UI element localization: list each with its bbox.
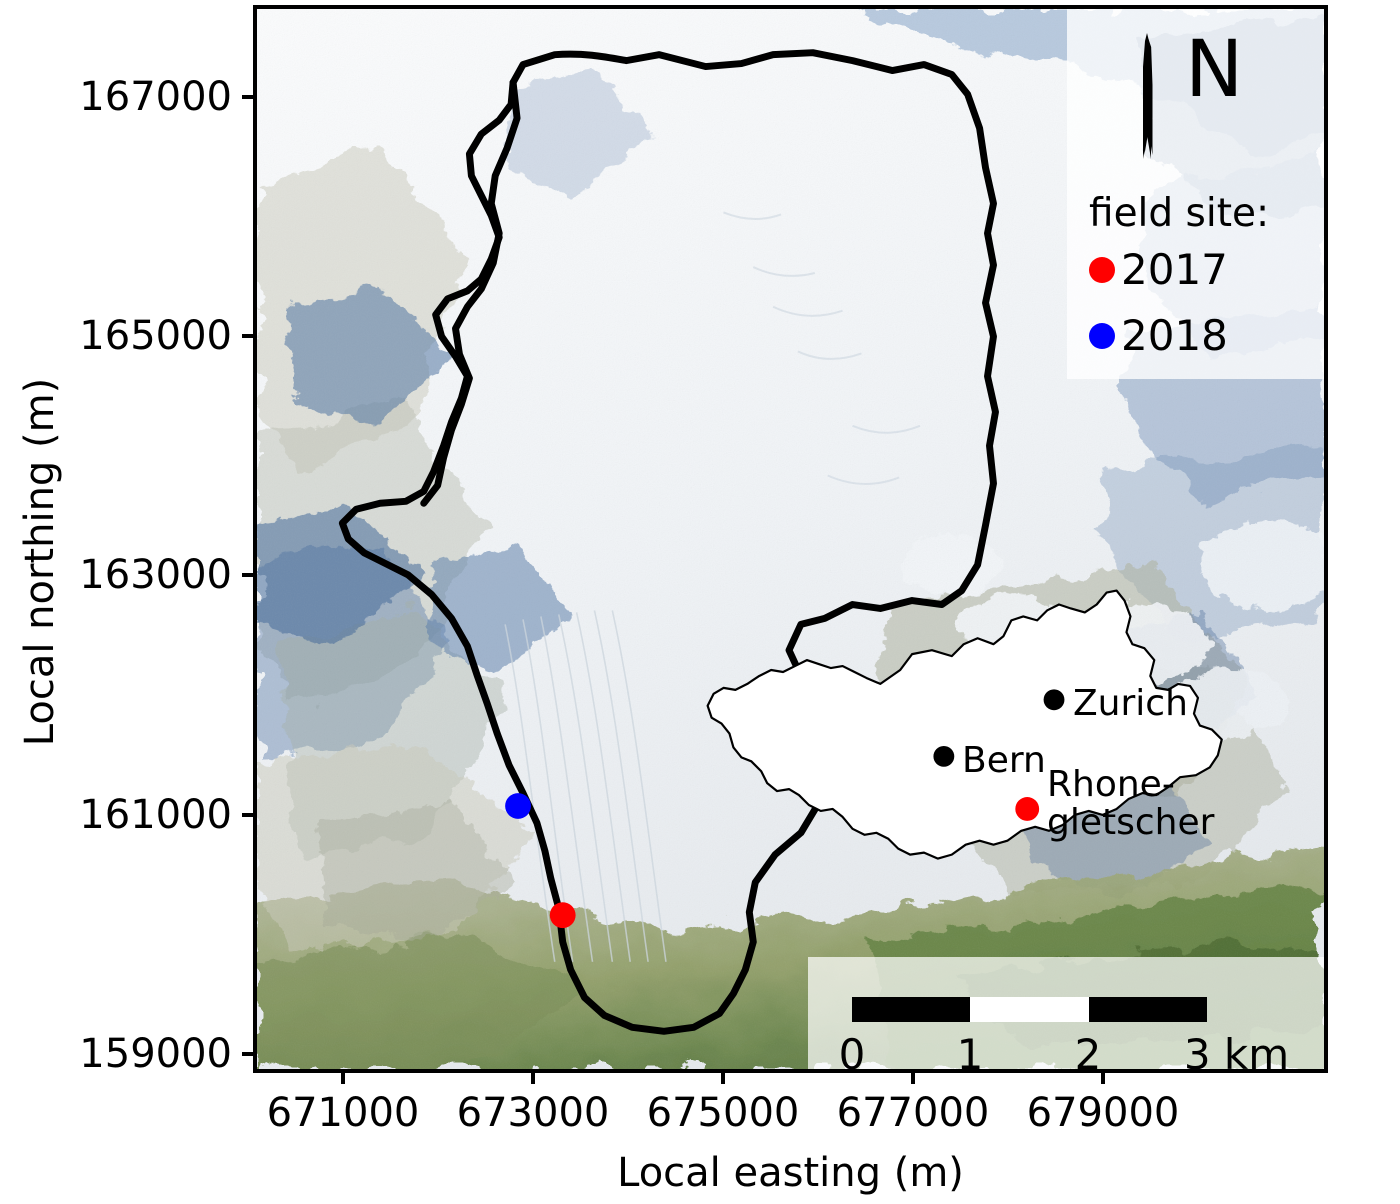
figure-root: Zurich Bern Rhone- gletscher N field sit… bbox=[0, 0, 1400, 1204]
north-arrow-label: N bbox=[1185, 31, 1243, 109]
inset-site-rhonegletscher-dot bbox=[1015, 797, 1039, 821]
xtick-label-675000: 675000 bbox=[647, 1090, 800, 1136]
legend-title: field site: bbox=[1089, 191, 1269, 236]
ytick-mark-161000 bbox=[242, 813, 253, 817]
xtick-mark-679000 bbox=[1101, 1073, 1105, 1084]
scalebar-label-1: 1 bbox=[957, 1030, 984, 1073]
xtick-mark-673000 bbox=[531, 1073, 535, 1084]
xtick-mark-675000 bbox=[721, 1073, 725, 1084]
scalebar-label-0: 0 bbox=[839, 1030, 866, 1073]
scalebar-segment-1 bbox=[970, 997, 1088, 1022]
ytick-mark-165000 bbox=[242, 334, 253, 338]
legend-entry-2017[interactable]: 2017 bbox=[1089, 249, 1228, 291]
map-legend[interactable]: N field site: 2017 2018 bbox=[1067, 9, 1328, 379]
ytick-label-167000: 167000 bbox=[0, 74, 232, 120]
ytick-label-159000: 159000 bbox=[0, 1031, 232, 1077]
y-axis-label: Local northing (m) bbox=[17, 282, 63, 842]
xtick-label-673000: 673000 bbox=[457, 1090, 610, 1136]
legend-swatch-2017 bbox=[1089, 257, 1115, 283]
scalebar-segment-2 bbox=[1089, 997, 1207, 1022]
inset-label-bern: Bern bbox=[962, 743, 1046, 779]
scalebar-segment-0 bbox=[852, 997, 970, 1022]
map-scalebar: 0 1 2 3 km bbox=[808, 957, 1328, 1073]
inset-label-zurich: Zurich bbox=[1073, 686, 1188, 722]
scalebar-segments bbox=[852, 997, 1207, 1022]
xtick-label-671000: 671000 bbox=[267, 1090, 420, 1136]
legend-label-2017: 2017 bbox=[1121, 249, 1228, 291]
xtick-mark-677000 bbox=[911, 1073, 915, 1084]
scalebar-label-2: 2 bbox=[1075, 1030, 1102, 1073]
scalebar-label-3: 3 km bbox=[1184, 1030, 1289, 1073]
inset-label-rhonegletscher-line1: Rhone- bbox=[1047, 767, 1175, 803]
field-site-2017-marker bbox=[550, 902, 576, 928]
field-site-2018-marker bbox=[505, 793, 531, 819]
inset-label-rhonegletscher-line2: gletscher bbox=[1047, 805, 1214, 841]
map-plot-area[interactable]: Zurich Bern Rhone- gletscher N field sit… bbox=[253, 5, 1328, 1073]
xtick-label-677000: 677000 bbox=[837, 1090, 990, 1136]
ytick-mark-167000 bbox=[242, 95, 253, 99]
legend-swatch-2018 bbox=[1089, 323, 1115, 349]
ytick-mark-159000 bbox=[242, 1052, 253, 1056]
xtick-label-679000: 679000 bbox=[1027, 1090, 1180, 1136]
legend-entry-2018[interactable]: 2018 bbox=[1089, 315, 1228, 357]
inset-city-bern-dot bbox=[933, 746, 954, 767]
inset-city-zurich-dot bbox=[1044, 689, 1065, 710]
xtick-mark-671000 bbox=[341, 1073, 345, 1084]
x-axis-label: Local easting (m) bbox=[253, 1150, 1328, 1196]
ytick-mark-163000 bbox=[242, 573, 253, 577]
legend-label-2018: 2018 bbox=[1121, 315, 1228, 357]
